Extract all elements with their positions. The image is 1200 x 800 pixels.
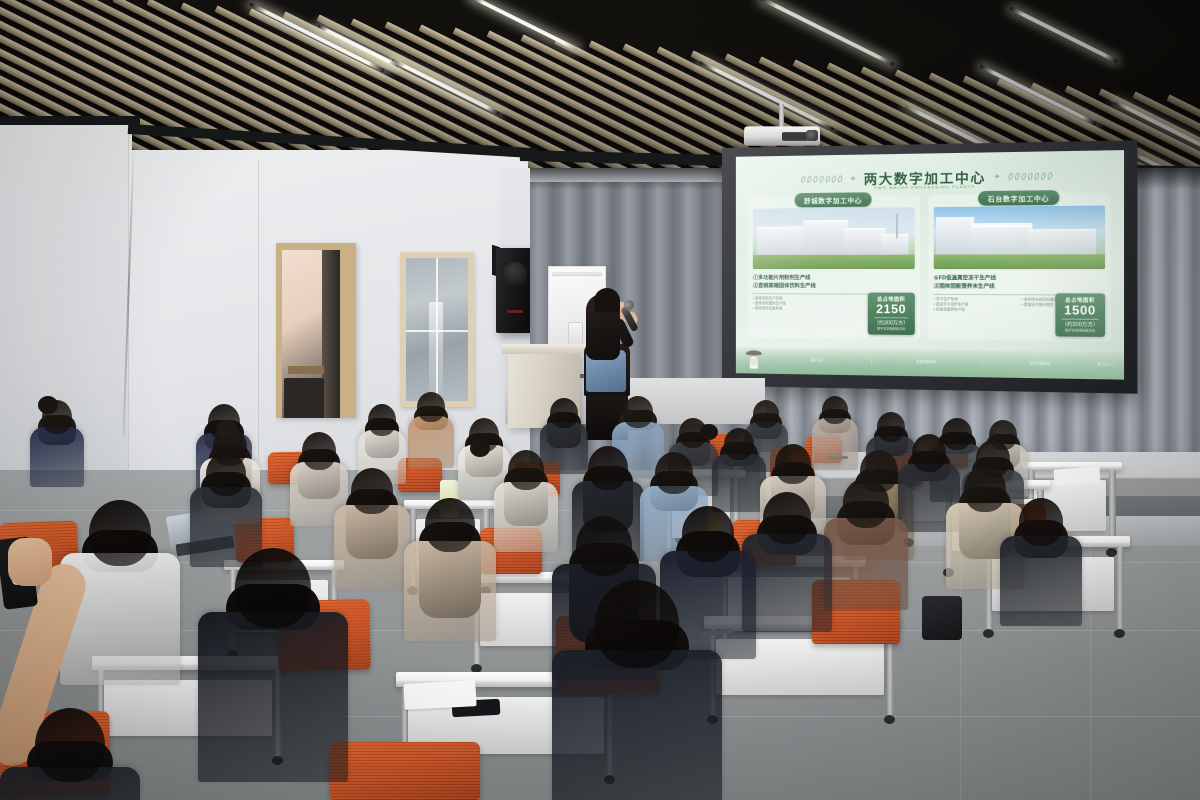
audience-head [623,396,653,428]
audience-head [576,516,632,576]
audience-head [35,708,105,782]
speaker-cone-icon [503,262,527,286]
ceiling-led-light [1009,6,1118,63]
star-icon-right: ✦ [993,172,1000,181]
audience-head [964,466,1006,512]
bag [922,596,962,640]
wall-panel-strip [552,272,602,276]
panel-left-badge-value: 2150 [874,303,909,316]
wall-panel-device [568,322,583,346]
audience-torso [408,416,454,468]
panel-right-area-badge: 总占地面积 1500 （约200万方） 数字化智能制造基地 [1055,294,1105,337]
audience-head [753,400,779,428]
slide-panel-right: 石台数字加工中心 ①FD低温真空冻干生产线 ②固体固能营养末生产线 [928,193,1110,341]
audience-head [843,478,889,528]
star-icon-left: ✦ [850,174,857,183]
audience-head [508,450,544,490]
wall-seam-b [258,160,259,460]
audience-head [235,548,311,628]
slide-content: ✦ 两大数字加工中心 ✦ TWO MAJOR PROCESSING PLANTS… [736,150,1124,380]
panel-right-tag: 石台数字加工中心 [978,190,1059,205]
panel-right-photo [934,206,1105,270]
doorway-shelf [288,366,324,374]
notebook [1053,466,1100,485]
audience-torso [404,541,496,641]
audience-head [595,580,679,668]
audience-head [1019,498,1063,546]
audience-torso [812,418,858,470]
mascot-icon [744,349,764,371]
footer-col-3: 全产业链布局 [982,361,1097,368]
audience-head [550,398,578,428]
hand [8,538,52,586]
panel-left-bullet-2: ②直销高端固体饮料生产线 [753,282,915,291]
slide-panel-left: 舒城数字加工中心 ①多功能片剂粉剂生产线 ②直销高端固体饮料生产线 [748,195,920,339]
ornament-left-icon [801,175,842,183]
audience-torso [198,612,348,782]
audience-head [822,396,848,424]
wall-speaker [496,248,534,333]
projector-lens-icon [806,130,818,141]
audience-head [763,492,811,544]
footer-right-label: 数字化工厂 [1097,363,1115,369]
audience-head [655,452,693,494]
projection-screen: ✦ 两大数字加工中心 ✦ TWO MAJOR PROCESSING PLANTS… [722,140,1137,393]
hair-bun [700,424,718,440]
panel-right-badge-fine: 数字化智能制造基地 [1062,328,1099,333]
audience-head [942,418,972,450]
audience-torso [494,482,558,552]
slide-footer: 数字加工 智能制造基地 全产业链布局 数字化工厂 [736,347,1124,379]
audience-chair [330,742,480,800]
desk-caster [1114,629,1125,638]
presenter-hair-top [594,288,620,312]
audience-head [877,412,905,442]
lectern-top [502,344,586,354]
audience-head [368,404,396,436]
hair-bun [216,420,238,439]
ornament-right-icon [1008,172,1052,180]
ceiling-led-light [759,0,895,67]
audience-torso [30,427,84,487]
audience-head [682,506,734,562]
footer-col-2: 智能制造基地 [871,360,982,367]
audience-head [89,500,151,566]
ceiling-trim-left [0,116,140,125]
audience-head [425,498,475,552]
panel-right-note-3: • 标准化营养生产线 [934,308,1015,314]
audience-torso [824,518,908,610]
doorway-cabinet [284,378,324,418]
panel-right-bullets: ①FD低温真空冻干生产线 ②固体固能营养末生产线 [934,274,1105,291]
slide-footer-columns: 数字加工 智能制造基地 全产业链布局 [764,358,1097,368]
panel-left-badge-note: （约300万方） [874,317,909,327]
audience-head [588,446,628,490]
sliding-window[interactable] [400,252,474,407]
audience-torso [334,505,410,589]
desk-caster [1106,548,1117,557]
audience-torso [540,422,588,474]
desk-caster [983,629,994,638]
panel-left-photo [753,207,915,269]
panel-left-bullets: ①多功能片剂粉剂生产线 ②直销高端固体饮料生产线 [753,274,915,291]
slide-panel-row: 舒城数字加工中心 ①多功能片剂粉剂生产线 ②直销高端固体饮料生产线 [748,193,1111,341]
audience-torso [1000,536,1082,626]
hair-bun [470,440,490,457]
panel-right-badge-value: 1500 [1062,304,1099,318]
audience-head [302,432,336,470]
audience-torso [712,454,766,512]
panel-left-tag: 舒城数字加工中心 [795,192,872,207]
doorway-interior-shadow [322,250,340,418]
audience-head [206,452,246,496]
notebook [403,680,476,710]
hair-bun [38,396,58,414]
audience-head [417,392,445,422]
panel-left-badge-fine: 数字化智能制造基地 [874,326,909,330]
panel-right-badge-note: （约200万方） [1062,319,1099,329]
desk-caster [884,715,895,724]
training-room-photo: ✦ 两大数字加工中心 ✦ TWO MAJOR PROCESSING PLANTS… [0,0,1200,800]
audience-head [912,434,946,472]
panel-left-area-badge: 总占地面积 2150 （约300万方） 数字化智能制造基地 [867,293,914,335]
desk-leg [1117,547,1124,631]
audience-torso [552,650,722,800]
audience-head [775,444,811,484]
panel-right-bullet-2: ②固体固能营养末生产线 [934,283,1105,292]
audience-head [351,468,393,514]
audience-head [724,428,754,460]
footer-col-1: 数字加工 [764,358,871,365]
